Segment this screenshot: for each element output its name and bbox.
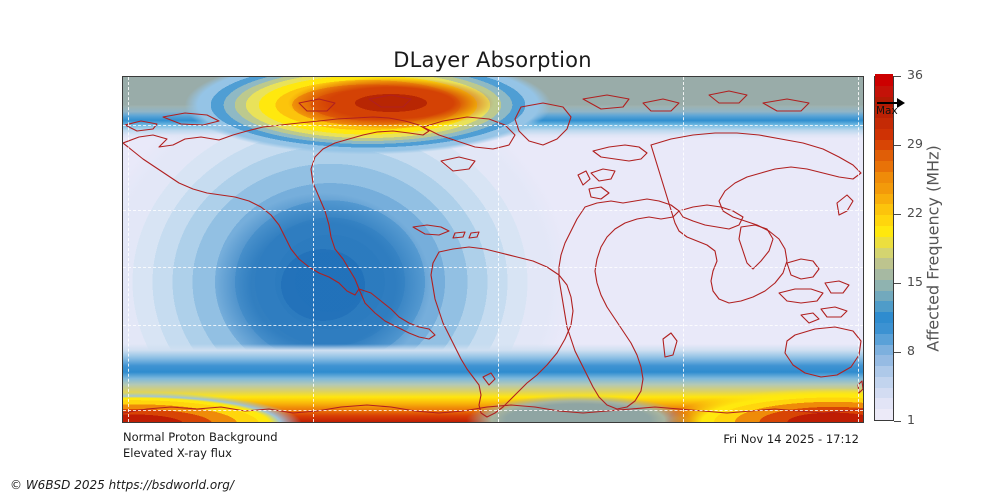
colorbar-segment bbox=[875, 366, 893, 377]
max-label: Max bbox=[876, 105, 898, 117]
colorbar-axis-label-text: Affected Frequency (MHz) bbox=[924, 145, 943, 351]
colorbar-segment bbox=[875, 376, 893, 387]
colorbar-segment bbox=[875, 139, 893, 150]
colorbar-segment bbox=[875, 322, 893, 333]
colorbar-tick-mark bbox=[894, 145, 901, 146]
timestamp: Fri Nov 14 2025 - 17:12 bbox=[723, 432, 859, 446]
colorbar-segment bbox=[875, 85, 893, 96]
max-arrowhead-icon bbox=[897, 98, 905, 108]
status-note-proton: Normal Proton Background bbox=[123, 430, 278, 444]
colorbar-segment bbox=[875, 301, 893, 312]
colorbar-segment bbox=[875, 171, 893, 182]
colorbar-segment bbox=[875, 182, 893, 193]
colorbar-segment bbox=[875, 387, 893, 398]
colorbar-segment bbox=[875, 409, 893, 420]
colorbar-max-marker: Max bbox=[874, 97, 920, 119]
colorbar-tick-mark bbox=[894, 352, 901, 353]
colorbar-segment bbox=[875, 225, 893, 236]
colorbar-segment bbox=[875, 279, 893, 290]
colorbar-axis-label: Affected Frequency (MHz) bbox=[920, 76, 946, 421]
colorbar-tick-mark bbox=[894, 421, 901, 422]
colorbar-segment bbox=[875, 355, 893, 366]
dlayer-absorption-figure: DLayer Absorption bbox=[0, 0, 1000, 500]
colorbar-tick-label: 1 bbox=[907, 412, 915, 427]
colorbar-segment bbox=[875, 398, 893, 409]
max-arrow-icon bbox=[877, 102, 899, 104]
colorbar-tick-mark bbox=[894, 76, 901, 77]
colorbar-tick-label: 8 bbox=[907, 343, 915, 358]
colorbar-segment bbox=[875, 118, 893, 129]
colorbar-segment bbox=[875, 333, 893, 344]
colorbar-segment bbox=[875, 74, 893, 85]
page-title: DLayer Absorption bbox=[0, 48, 985, 72]
copyright-notice: © W6BSD 2025 https://bsdworld.org/ bbox=[10, 478, 234, 492]
colorbar-segment bbox=[875, 268, 893, 279]
colorbar-gradient bbox=[874, 76, 894, 421]
colorbar-segment bbox=[875, 344, 893, 355]
colorbar-segment bbox=[875, 215, 893, 226]
status-note-xray: Elevated X-ray flux bbox=[123, 446, 232, 460]
colorbar-segment bbox=[875, 290, 893, 301]
colorbar[interactable]: 3629221581 bbox=[874, 76, 894, 421]
colorbar-segment bbox=[875, 204, 893, 215]
colorbar-tick-mark bbox=[894, 283, 901, 284]
colorbar-segment bbox=[875, 128, 893, 139]
colorbar-segment bbox=[875, 247, 893, 258]
coastlines-layer bbox=[123, 77, 863, 422]
world-map-panel[interactable] bbox=[122, 76, 864, 423]
colorbar-segment bbox=[875, 150, 893, 161]
colorbar-segment bbox=[875, 258, 893, 269]
colorbar-segment bbox=[875, 193, 893, 204]
colorbar-segment bbox=[875, 161, 893, 172]
colorbar-tick-mark bbox=[894, 214, 901, 215]
colorbar-segment bbox=[875, 312, 893, 323]
colorbar-segment bbox=[875, 236, 893, 247]
